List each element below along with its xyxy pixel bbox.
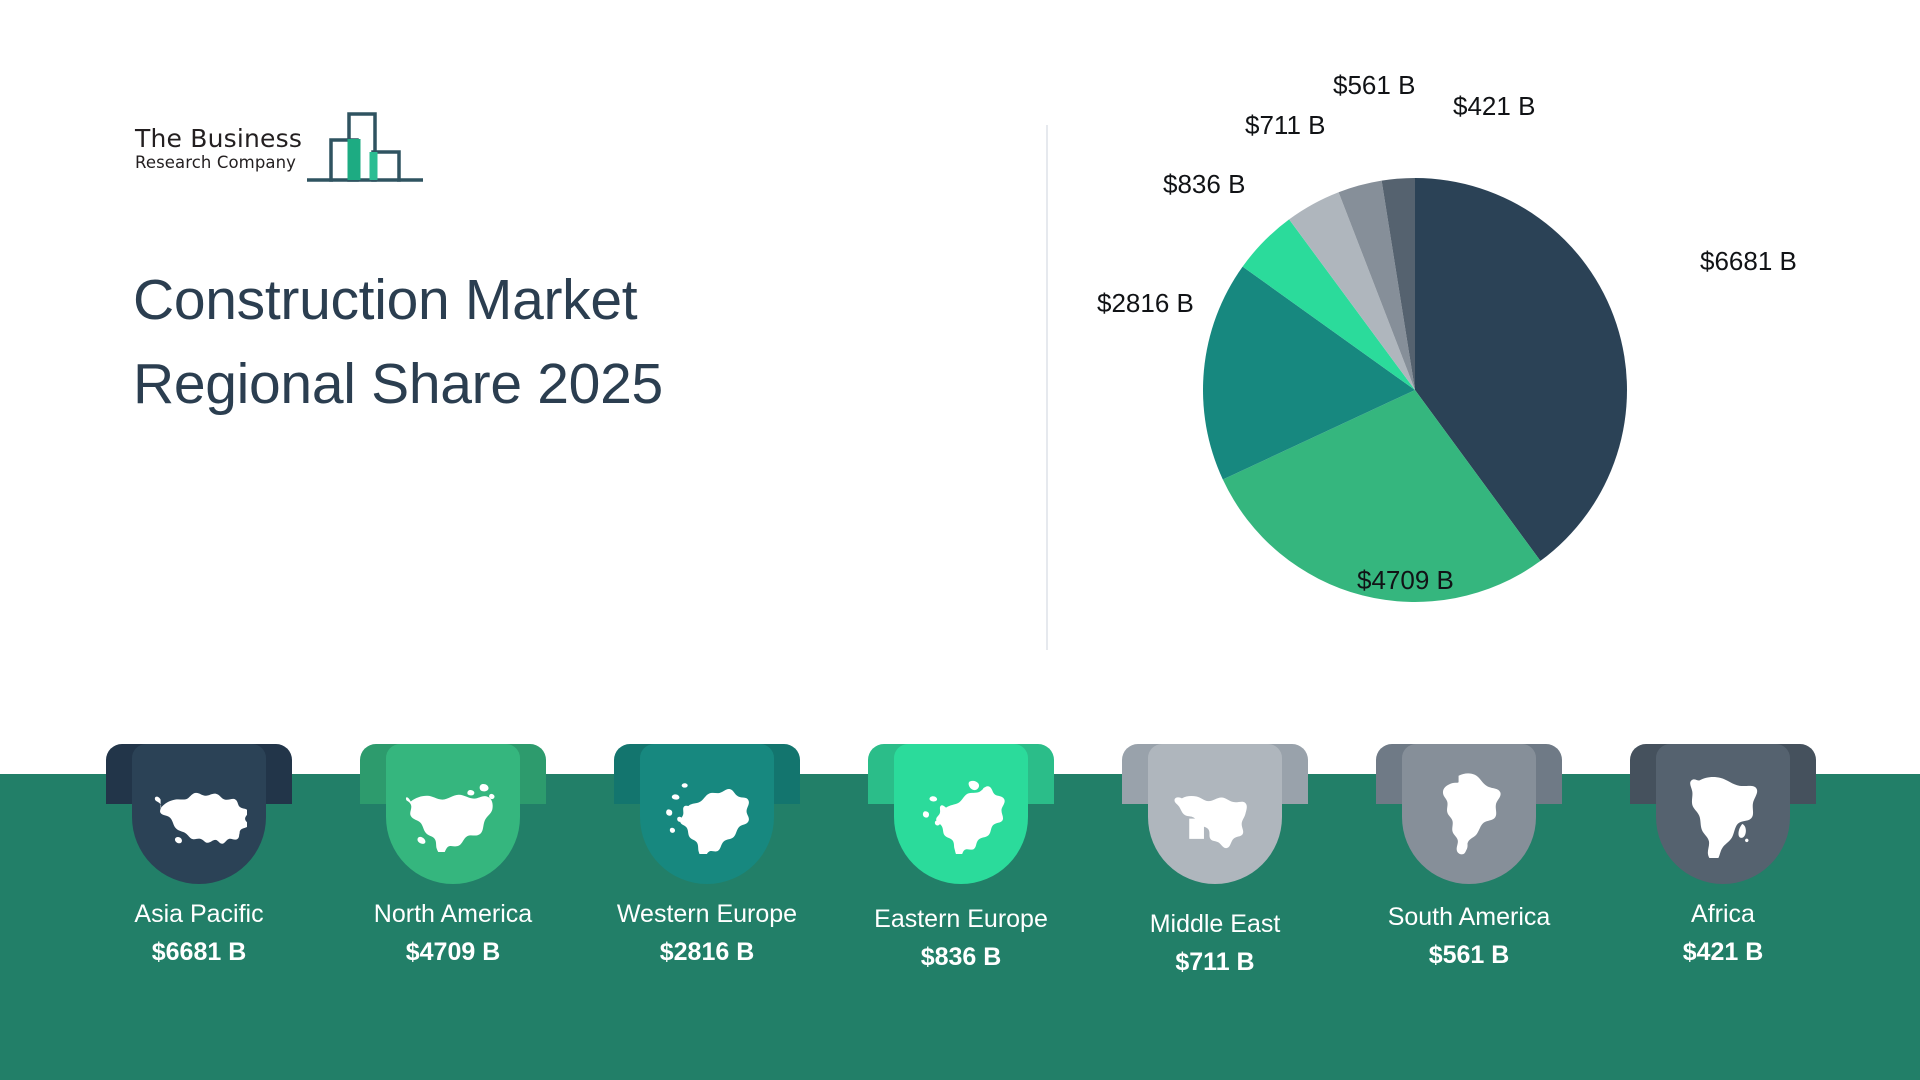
region-value: $6681 B — [106, 937, 292, 968]
infographic-canvas: The Business Research Company Cons — [0, 0, 1920, 1080]
pie-value-label-south-america: $561 B — [1333, 70, 1415, 101]
pie-chart-svg — [1040, 60, 1870, 720]
pie-value-label-western-europe: $2816 B — [1097, 288, 1194, 319]
western-europe-map-icon — [661, 774, 753, 854]
region-value: $421 B — [1630, 937, 1816, 968]
region-name: Western Europe — [614, 899, 800, 930]
region-card-caption: Middle East$711 B — [1122, 909, 1308, 977]
pie-value-label-north-america: $4709 B — [1357, 565, 1454, 596]
region-card-caption: Asia Pacific$6681 B — [106, 899, 292, 967]
middle-east-map-icon — [1169, 774, 1261, 854]
region-card-row: Asia Pacific$6681 BNorth America$4709 BW… — [0, 744, 1920, 1080]
region-value: $711 B — [1122, 947, 1308, 978]
region-card-badge — [1656, 744, 1790, 884]
region-value: $836 B — [868, 942, 1054, 973]
africa-map-icon — [1685, 770, 1761, 858]
logo-line-2: Research Company — [135, 155, 313, 172]
pie-value-label-asia-pacific: $6681 B — [1700, 246, 1797, 277]
region-card-caption: Africa$421 B — [1630, 899, 1816, 967]
region-name: South America — [1376, 902, 1562, 933]
region-card-caption: Western Europe$2816 B — [614, 899, 800, 967]
region-card-badge — [132, 744, 266, 884]
region-name: Eastern Europe — [868, 904, 1054, 935]
region-name: North America — [360, 899, 546, 930]
asia-pacific-map-icon — [151, 779, 247, 849]
pie-value-label-africa: $421 B — [1453, 91, 1535, 122]
region-card-badge — [386, 744, 520, 884]
region-value: $561 B — [1376, 940, 1562, 971]
north-america-map-icon — [405, 776, 501, 852]
region-card-badge — [640, 744, 774, 884]
region-name: Africa — [1630, 899, 1816, 930]
region-card-caption: Eastern Europe$836 B — [868, 904, 1054, 972]
pie-value-label-eastern-europe: $836 B — [1163, 169, 1245, 200]
logo-wordmark: The Business Research Company — [135, 126, 313, 172]
page-title: Construction Market Regional Share 2025 — [133, 258, 893, 427]
region-card-badge — [894, 744, 1028, 884]
region-card-caption: North America$4709 B — [360, 899, 546, 967]
pie-value-label-middle-east: $711 B — [1245, 110, 1325, 141]
region-card-caption: South America$561 B — [1376, 902, 1562, 970]
region-value: $4709 B — [360, 937, 546, 968]
logo-line-1: The Business — [135, 126, 313, 151]
page-title-line-2: Regional Share 2025 — [133, 352, 663, 416]
bar-chart-logo-mark-icon — [305, 108, 425, 188]
region-name: Middle East — [1122, 909, 1308, 940]
region-card-badge — [1148, 744, 1282, 884]
pie-slice-group — [1203, 178, 1627, 602]
region-name: Asia Pacific — [106, 899, 292, 930]
south-america-map-icon — [1436, 770, 1502, 858]
page-title-line-1: Construction Market — [133, 268, 637, 332]
company-logo: The Business Research Company — [135, 108, 425, 188]
regional-share-pie-chart: $6681 B$4709 B$2816 B$836 B$711 B$561 B$… — [1040, 60, 1870, 720]
eastern-europe-map-icon — [915, 774, 1007, 854]
region-card-badge — [1402, 744, 1536, 884]
region-value: $2816 B — [614, 937, 800, 968]
